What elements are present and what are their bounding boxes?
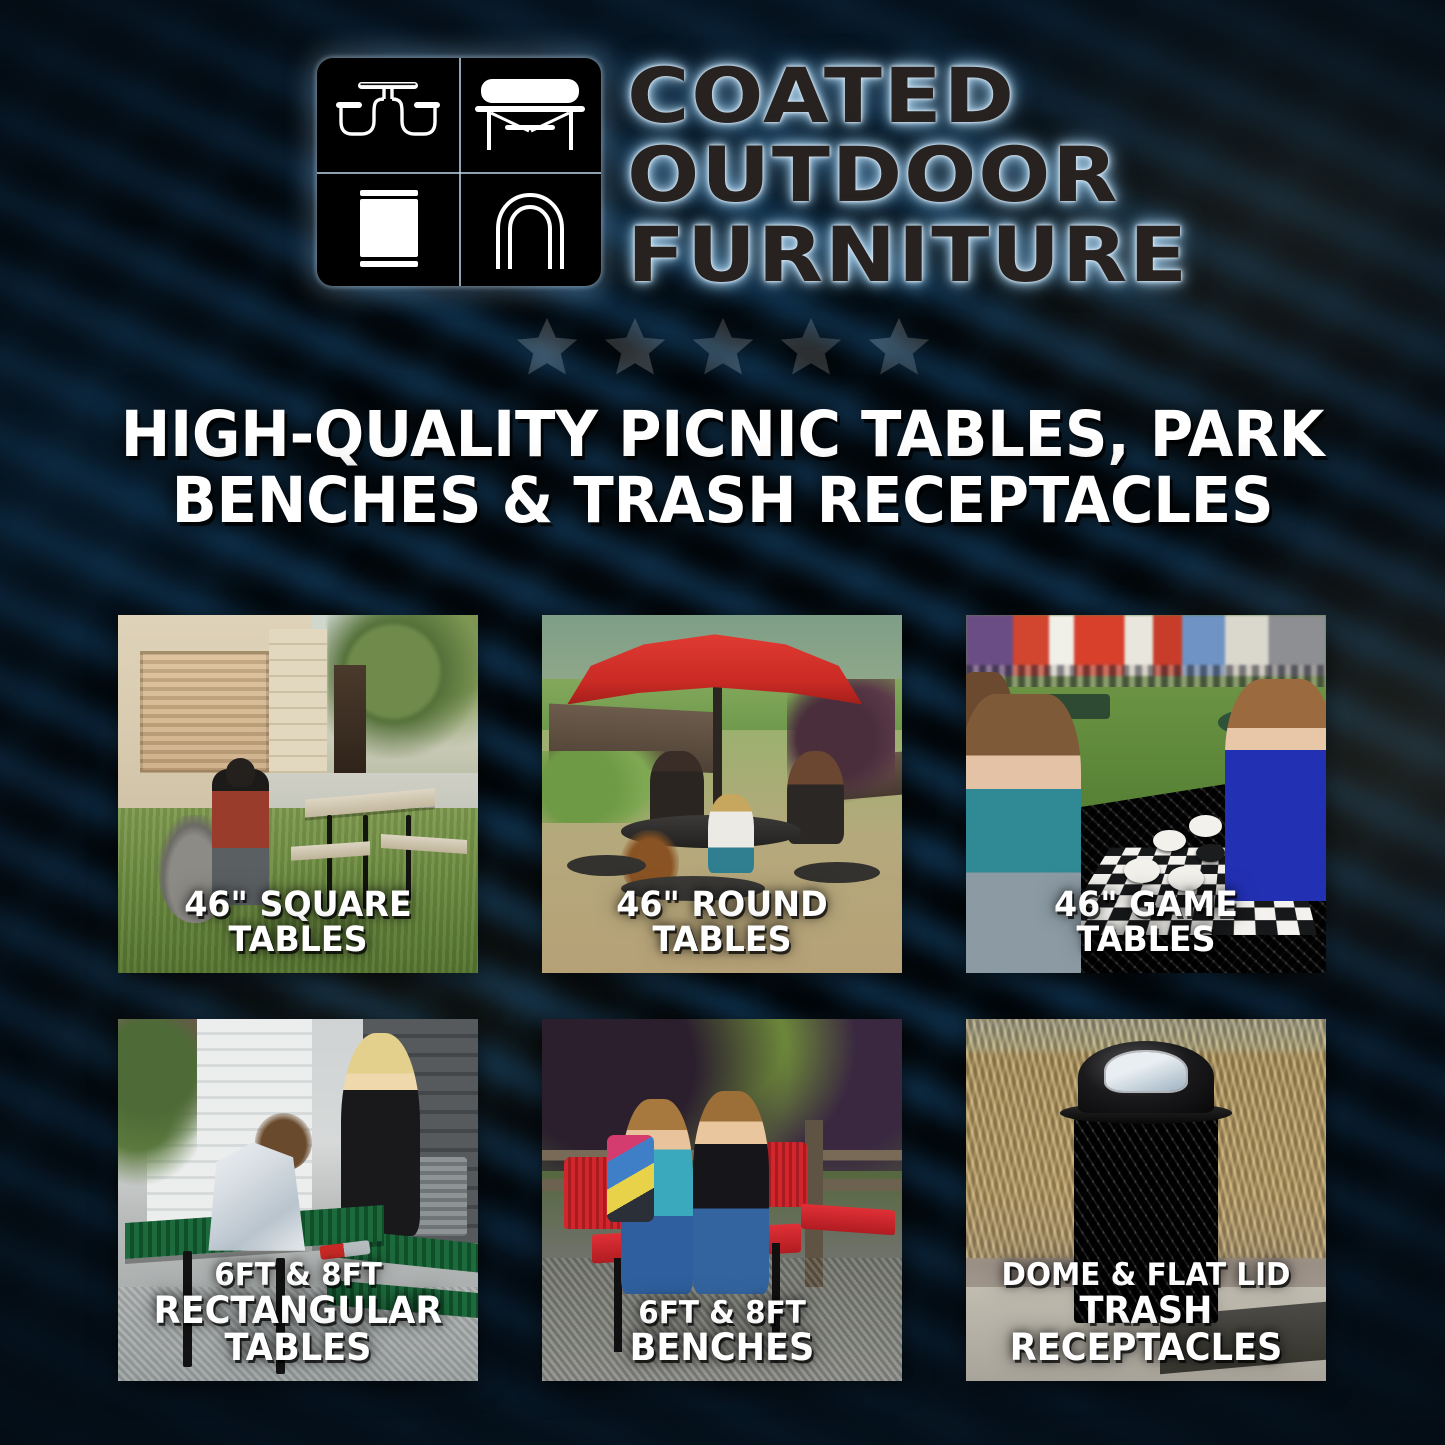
product-caption-round-tables: 46" ROUND TABLES (551, 888, 893, 959)
caption-line-2: TRASH RECEPTACLES (981, 1292, 1312, 1367)
promo-poster: COATED OUTDOOR FURNITURE HIGH-QUALITY PI… (0, 0, 1445, 1445)
headline-line-1: HIGH-QUALITY PICNIC TABLES, PARK (109, 402, 1336, 468)
product-caption-benches: 6FT & 8FT BENCHES (551, 1298, 893, 1367)
brand-name-line-3: FURNITURE (627, 219, 1189, 290)
product-caption-rectangular-tables: 6FT & 8FT RECTANGULAR TABLES (127, 1260, 469, 1367)
brand-name-line-2: OUTDOOR (627, 139, 1189, 210)
headline-line-2: BENCHES & TRASH RECEPTACLES (109, 468, 1336, 534)
caption-line-2: BENCHES (557, 1329, 888, 1367)
product-grid: 46" SQUARE TABLES (118, 615, 1326, 1381)
product-caption-square-tables: 46" SQUARE TABLES (127, 888, 469, 959)
product-tile-benches[interactable]: 6FT & 8FT BENCHES (542, 1019, 902, 1381)
product-tile-square-tables[interactable]: 46" SQUARE TABLES (118, 615, 478, 973)
product-caption-game-tables: 46" GAME TABLES (975, 888, 1317, 959)
brand-lockup: COATED OUTDOOR FURNITURE (317, 58, 1129, 290)
bike-rack-icon (459, 172, 601, 286)
caption-line-1: 46" GAME TABLES (981, 888, 1312, 959)
headline: HIGH-QUALITY PICNIC TABLES, PARK BENCHES… (43, 402, 1401, 533)
product-caption-trash-receptacles: DOME & FLAT LID TRASH RECEPTACLES (975, 1260, 1317, 1367)
picnic-table-icon (317, 58, 459, 172)
caption-line-1: 46" SQUARE TABLES (133, 888, 464, 959)
header: COATED OUTDOOR FURNITURE (0, 0, 1445, 290)
caption-line-1: 46" ROUND TABLES (557, 888, 888, 959)
caption-line-2: RECTANGULAR TABLES (133, 1292, 464, 1367)
product-tile-rectangular-tables[interactable]: 6FT & 8FT RECTANGULAR TABLES (118, 1019, 478, 1381)
bench-table-icon (459, 58, 601, 172)
product-tile-round-tables[interactable]: 46" ROUND TABLES (542, 615, 902, 973)
product-tile-trash-receptacles[interactable]: DOME & FLAT LID TRASH RECEPTACLES (966, 1019, 1326, 1381)
caption-line-1: 6FT & 8FT (133, 1260, 464, 1292)
caption-line-1: 6FT & 8FT (557, 1298, 888, 1330)
caption-line-1: DOME & FLAT LID (981, 1260, 1312, 1292)
brand-wordmark: COATED OUTDOOR FURNITURE (627, 58, 1129, 290)
brand-logo-mark (317, 58, 601, 286)
brand-name-line-1: COATED (627, 60, 1189, 131)
product-tile-game-tables[interactable]: 46" GAME TABLES (966, 615, 1326, 973)
trash-receptacle-icon (317, 172, 459, 286)
